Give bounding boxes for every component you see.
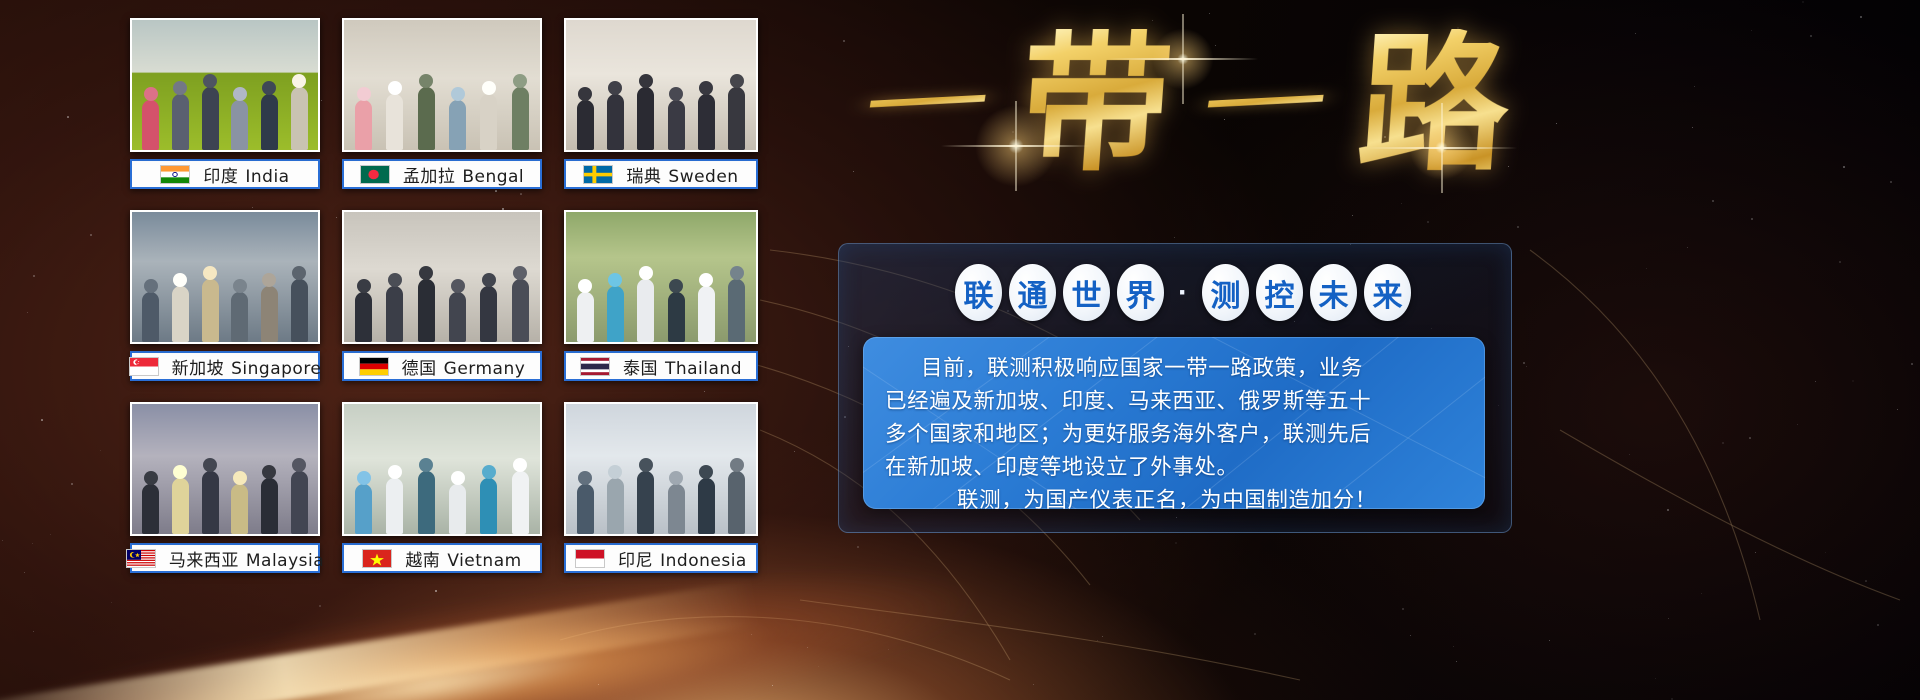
country-label: 新加坡Singapore (172, 354, 322, 379)
banner-stage: 印度India 孟加拉Bengal 瑞典Sweden (0, 0, 1920, 700)
slogan-char-badge: 来 (1364, 264, 1411, 321)
calligraphy-char-4: 路 (1354, 29, 1515, 179)
country-name-cn: 越南 (405, 551, 440, 571)
country-caption[interactable]: 印度India (130, 159, 320, 189)
country-photo (564, 210, 758, 344)
country-name-en: Sweden (668, 167, 738, 187)
slogan-separator-dot: · (1171, 264, 1195, 321)
country-name-cn: 瑞典 (626, 167, 661, 187)
country-name-en: Germany (444, 359, 526, 379)
description-line: 目前，联测积极响应国家一带一路政策，业务 (885, 352, 1463, 385)
slogan-char-badge: 控 (1256, 264, 1303, 321)
slogan-badges: 联通世界·测控未来 (955, 264, 1411, 321)
slogan-char-badge: 测 (1202, 264, 1249, 321)
country-name-cn: 印度 (203, 167, 238, 187)
country-caption[interactable]: 泰国Thailand (564, 351, 758, 381)
flag-singapore-icon (129, 357, 159, 376)
country-name-en: Singapore (231, 359, 321, 379)
slogan-char-badge: 通 (1009, 264, 1056, 321)
country-label: 泰国Thailand (623, 354, 742, 379)
country-label: 印度India (203, 162, 289, 187)
country-name-cn: 泰国 (623, 359, 658, 379)
calligraphy-char-2: 带 (1016, 29, 1177, 179)
flag-sweden-icon (583, 165, 613, 184)
country-name-en: Vietnam (447, 551, 521, 571)
country-name-en: Bengal (462, 167, 524, 187)
country-name-cn: 德国 (402, 359, 437, 379)
calligraphy-char-1: 一 (862, 71, 993, 137)
country-caption[interactable]: 瑞典Sweden (564, 159, 758, 189)
country-photo (130, 18, 320, 152)
photo-card[interactable]: 越南Vietnam (342, 402, 542, 580)
flag-vietnam-icon (362, 549, 392, 568)
country-photo (342, 210, 542, 344)
photo-card[interactable]: 泰国Thailand (564, 210, 758, 388)
slogan-char-badge: 联 (955, 264, 1002, 321)
description-line: 联测，为国产仪表正名，为中国制造加分！ (885, 484, 1463, 509)
flag-malaysia-icon (126, 549, 156, 568)
country-label: 孟加拉Bengal (403, 162, 524, 187)
country-label: 印尼Indonesia (618, 546, 747, 571)
flag-thailand-icon (580, 357, 610, 376)
country-name-cn: 印尼 (618, 551, 653, 571)
sparkle-icon (1394, 100, 1489, 195)
flag-indonesia-icon (575, 549, 605, 568)
country-name-cn: 孟加拉 (403, 167, 456, 187)
country-photo (342, 18, 542, 152)
sparkle-icon (956, 86, 1076, 206)
photo-card[interactable]: 德国Germany (342, 210, 542, 388)
country-label: 越南Vietnam (405, 546, 521, 571)
photo-card[interactable]: 孟加拉Bengal (342, 18, 542, 196)
slogan-char-badge: 世 (1063, 264, 1110, 321)
calligraphy-char-3: 一 (1200, 71, 1331, 137)
country-name-en: India (245, 167, 289, 187)
description-box: 目前，联测积极响应国家一带一路政策，业务已经遍及新加坡、印度、马来西亚、俄罗斯等… (863, 337, 1485, 509)
country-photo-grid: 印度India 孟加拉Bengal 瑞典Sweden (130, 18, 760, 580)
photo-card[interactable]: 印尼Indonesia (564, 402, 758, 580)
country-name-en: Thailand (665, 359, 742, 379)
country-photo (564, 18, 758, 152)
country-caption[interactable]: 印尼Indonesia (564, 543, 758, 573)
country-label: 马来西亚Malaysia (169, 546, 324, 571)
photo-card[interactable]: 新加坡Singapore (130, 210, 320, 388)
photo-card[interactable]: 印度India (130, 18, 320, 196)
country-photo (564, 402, 758, 536)
country-caption[interactable]: 新加坡Singapore (130, 351, 320, 381)
country-photo (130, 402, 320, 536)
sparkle-icon (1138, 14, 1228, 104)
country-caption[interactable]: 越南Vietnam (342, 543, 542, 573)
headline-calligraphy: 一 带 一 路 (838, 4, 1538, 204)
country-label: 德国Germany (402, 354, 526, 379)
description-line: 已经遍及新加坡、印度、马来西亚、俄罗斯等五十 (885, 385, 1463, 418)
slogan-char-badge: 界 (1117, 264, 1164, 321)
horizon-streak (0, 580, 759, 700)
country-label: 瑞典Sweden (626, 162, 738, 187)
flag-bangladesh-icon (360, 165, 390, 184)
description-line: 多个国家和地区；为更好服务海外客户，联测先后 (885, 418, 1463, 451)
country-caption[interactable]: 马来西亚Malaysia (130, 543, 320, 573)
country-photo (130, 210, 320, 344)
photo-card[interactable]: 马来西亚Malaysia (130, 402, 320, 580)
photo-card[interactable]: 瑞典Sweden (564, 18, 758, 196)
flag-india-icon (160, 165, 190, 184)
country-name-en: Malaysia (246, 551, 324, 571)
country-name-cn: 新加坡 (172, 359, 225, 379)
country-caption[interactable]: 德国Germany (342, 351, 542, 381)
description-line: 在新加坡、印度等地设立了外事处。 (885, 451, 1463, 484)
country-name-en: Indonesia (660, 551, 747, 571)
slogan-char-badge: 未 (1310, 264, 1357, 321)
country-photo (342, 402, 542, 536)
country-caption[interactable]: 孟加拉Bengal (342, 159, 542, 189)
country-name-cn: 马来西亚 (169, 551, 239, 571)
flag-germany-icon (359, 357, 389, 376)
description-paragraph: 目前，联测积极响应国家一带一路政策，业务已经遍及新加坡、印度、马来西亚、俄罗斯等… (885, 352, 1463, 509)
